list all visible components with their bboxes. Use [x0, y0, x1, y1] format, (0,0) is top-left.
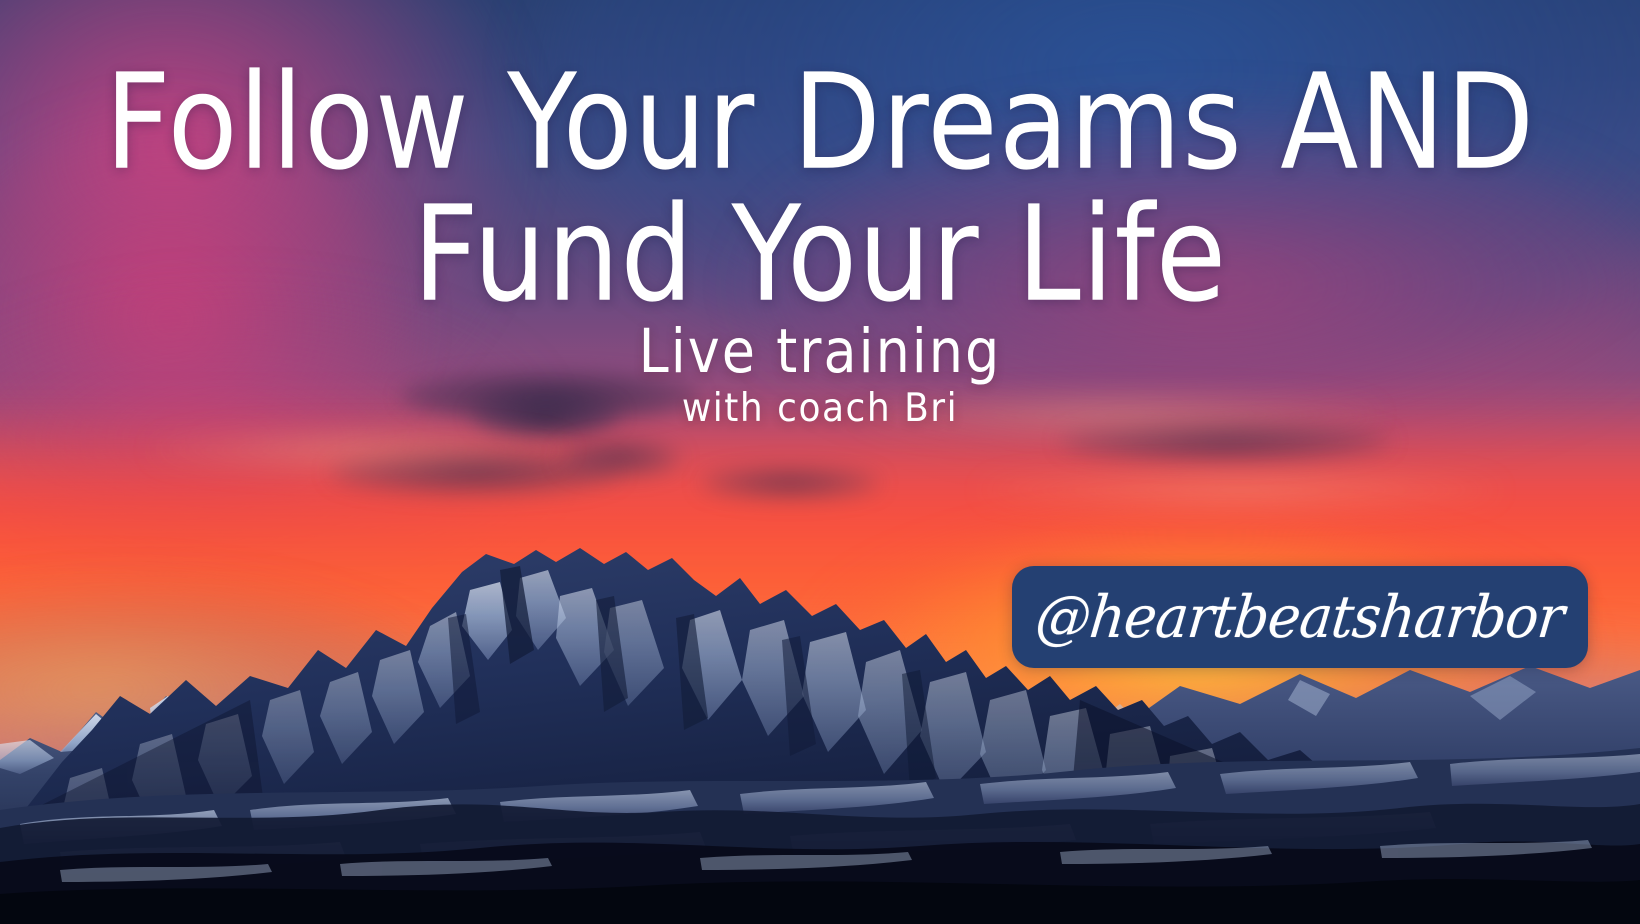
poster-canvas: Follow Your Dreams AND Fund Your Life Li… — [0, 0, 1640, 924]
headline-line-2: Fund Your Life — [25, 190, 1616, 320]
subheading-line-2: with coach Bri — [0, 386, 1640, 431]
subheading-line-1: Live training — [0, 316, 1640, 387]
headline-line-1: Follow Your Dreams AND — [25, 58, 1616, 188]
social-handle-text: @heartbeatsharbor — [1033, 588, 1566, 646]
foreground-dark-ridges — [0, 770, 1640, 924]
social-handle-badge[interactable]: @heartbeatsharbor — [1012, 566, 1588, 668]
